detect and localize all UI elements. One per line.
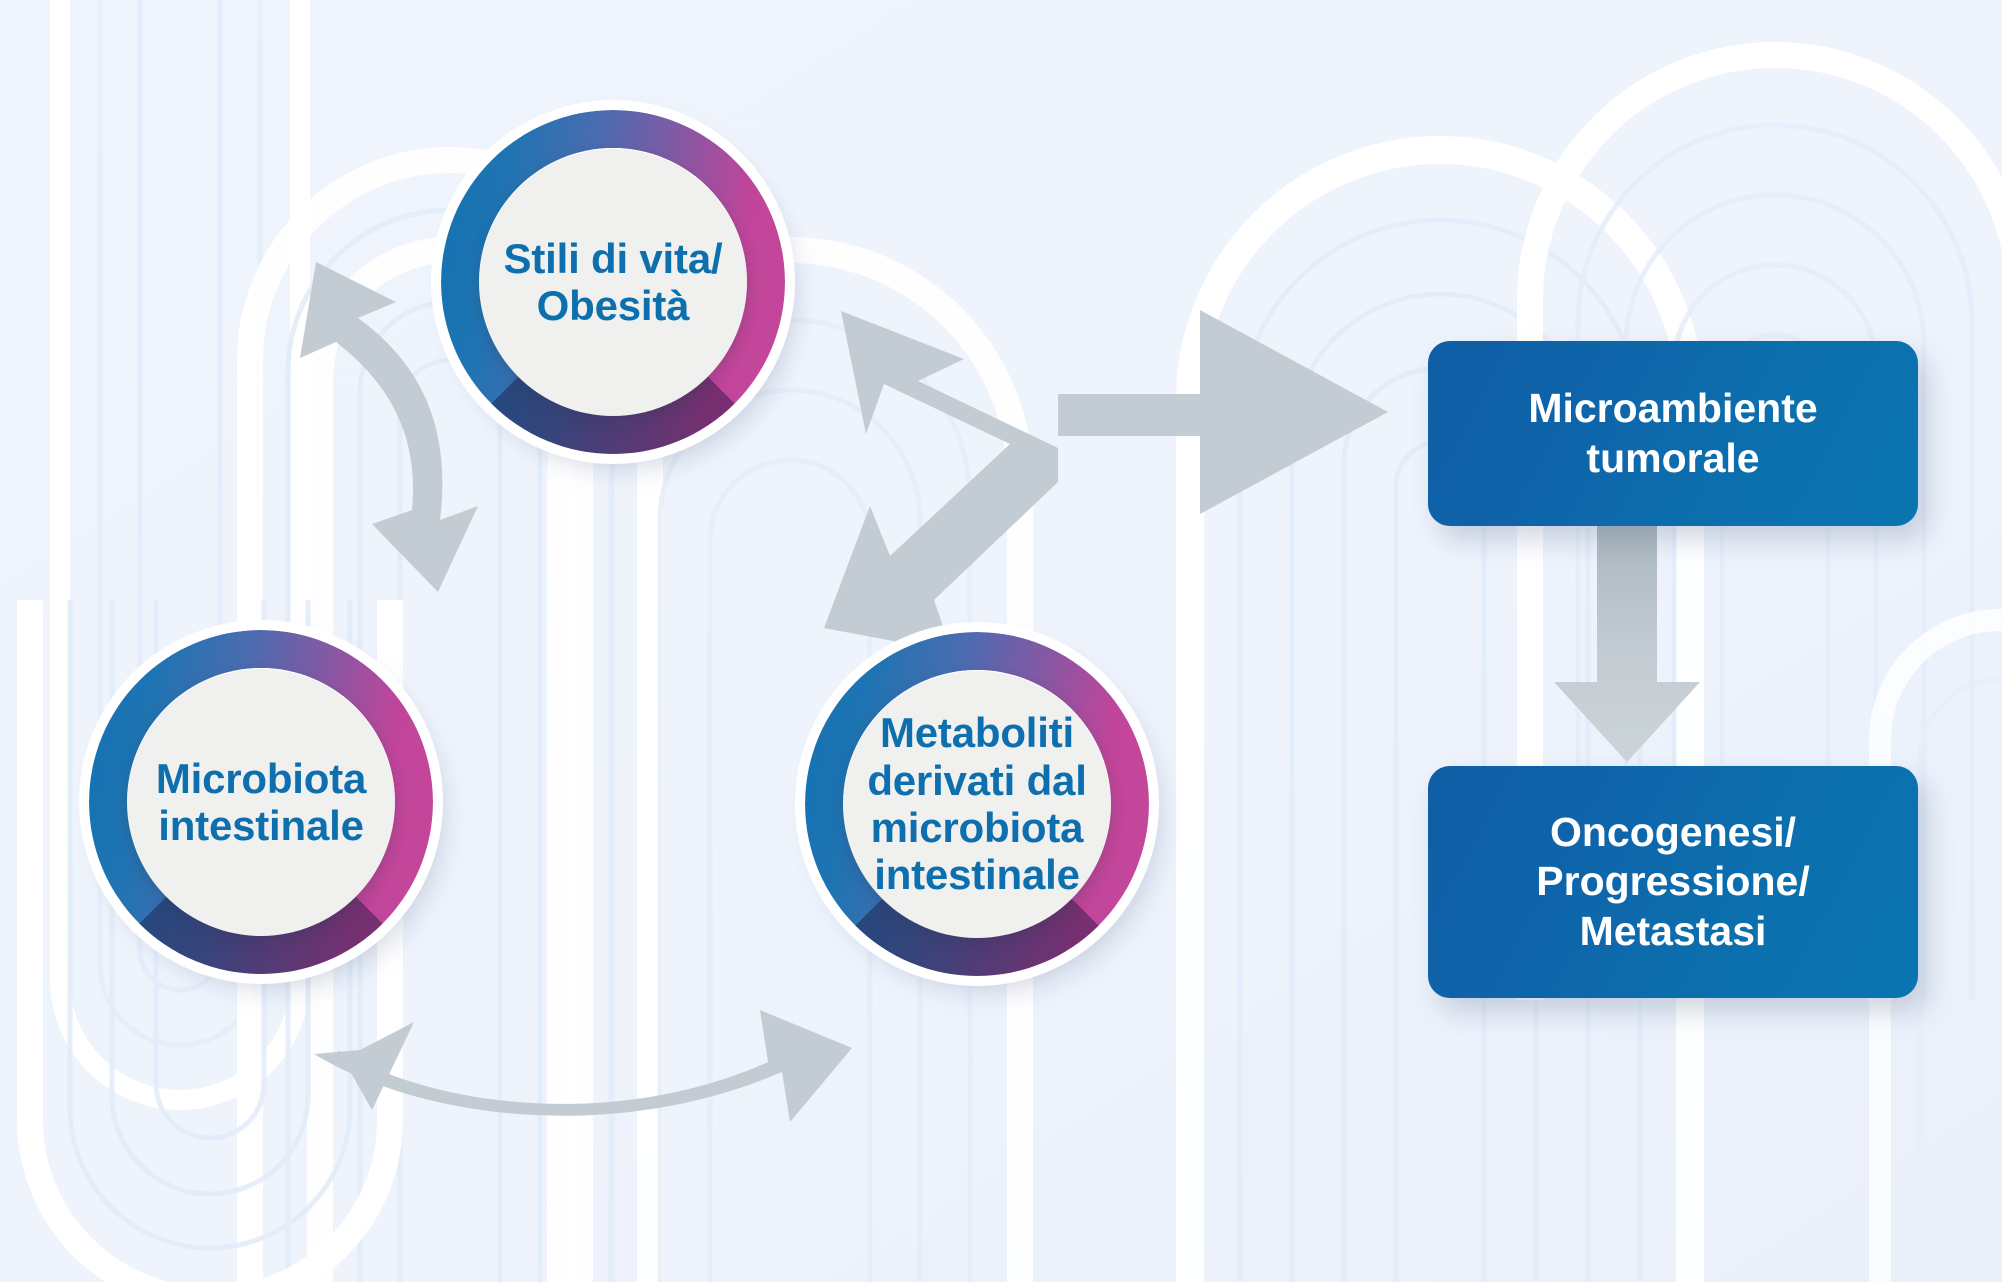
lifestyle-label: Stili di vita/ Obesità [504, 235, 723, 330]
metabolites-inner-disc: Metaboliti derivati dal microbiota intes… [843, 670, 1111, 938]
node-gut-microbiota[interactable]: Microbiota intestinale [89, 630, 433, 974]
microbiota-inner-disc: Microbiota intestinale [127, 668, 395, 936]
node-oncogenesis-progression-metastasis[interactable]: Oncogenesi/ Progressione/ Metastasi [1428, 766, 1918, 998]
arrow-three-way-hub [824, 310, 1388, 652]
node-tumor-microenvironment[interactable]: Microambiente tumorale [1428, 341, 1918, 526]
metabolites-label: Metaboliti derivati dal microbiota intes… [867, 709, 1086, 899]
oncogenesis-label: Oncogenesi/ Progressione/ Metastasi [1536, 808, 1809, 956]
microbiota-label: Microbiota intestinale [156, 755, 366, 850]
arrow-microbiota-to-metabolites [314, 1010, 852, 1122]
node-lifestyle-obesity[interactable]: Stili di vita/ Obesità [441, 110, 785, 454]
diagram-canvas: Stili di vita/ Obesità Microbiota intest… [0, 0, 2002, 1282]
node-microbiota-derived-metabolites[interactable]: Metaboliti derivati dal microbiota intes… [805, 632, 1149, 976]
lifestyle-inner-disc: Stili di vita/ Obesità [479, 148, 747, 416]
arrow-microenvironment-to-oncogenesis [1554, 522, 1700, 762]
tumor-microenvironment-label: Microambiente tumorale [1528, 384, 1817, 482]
